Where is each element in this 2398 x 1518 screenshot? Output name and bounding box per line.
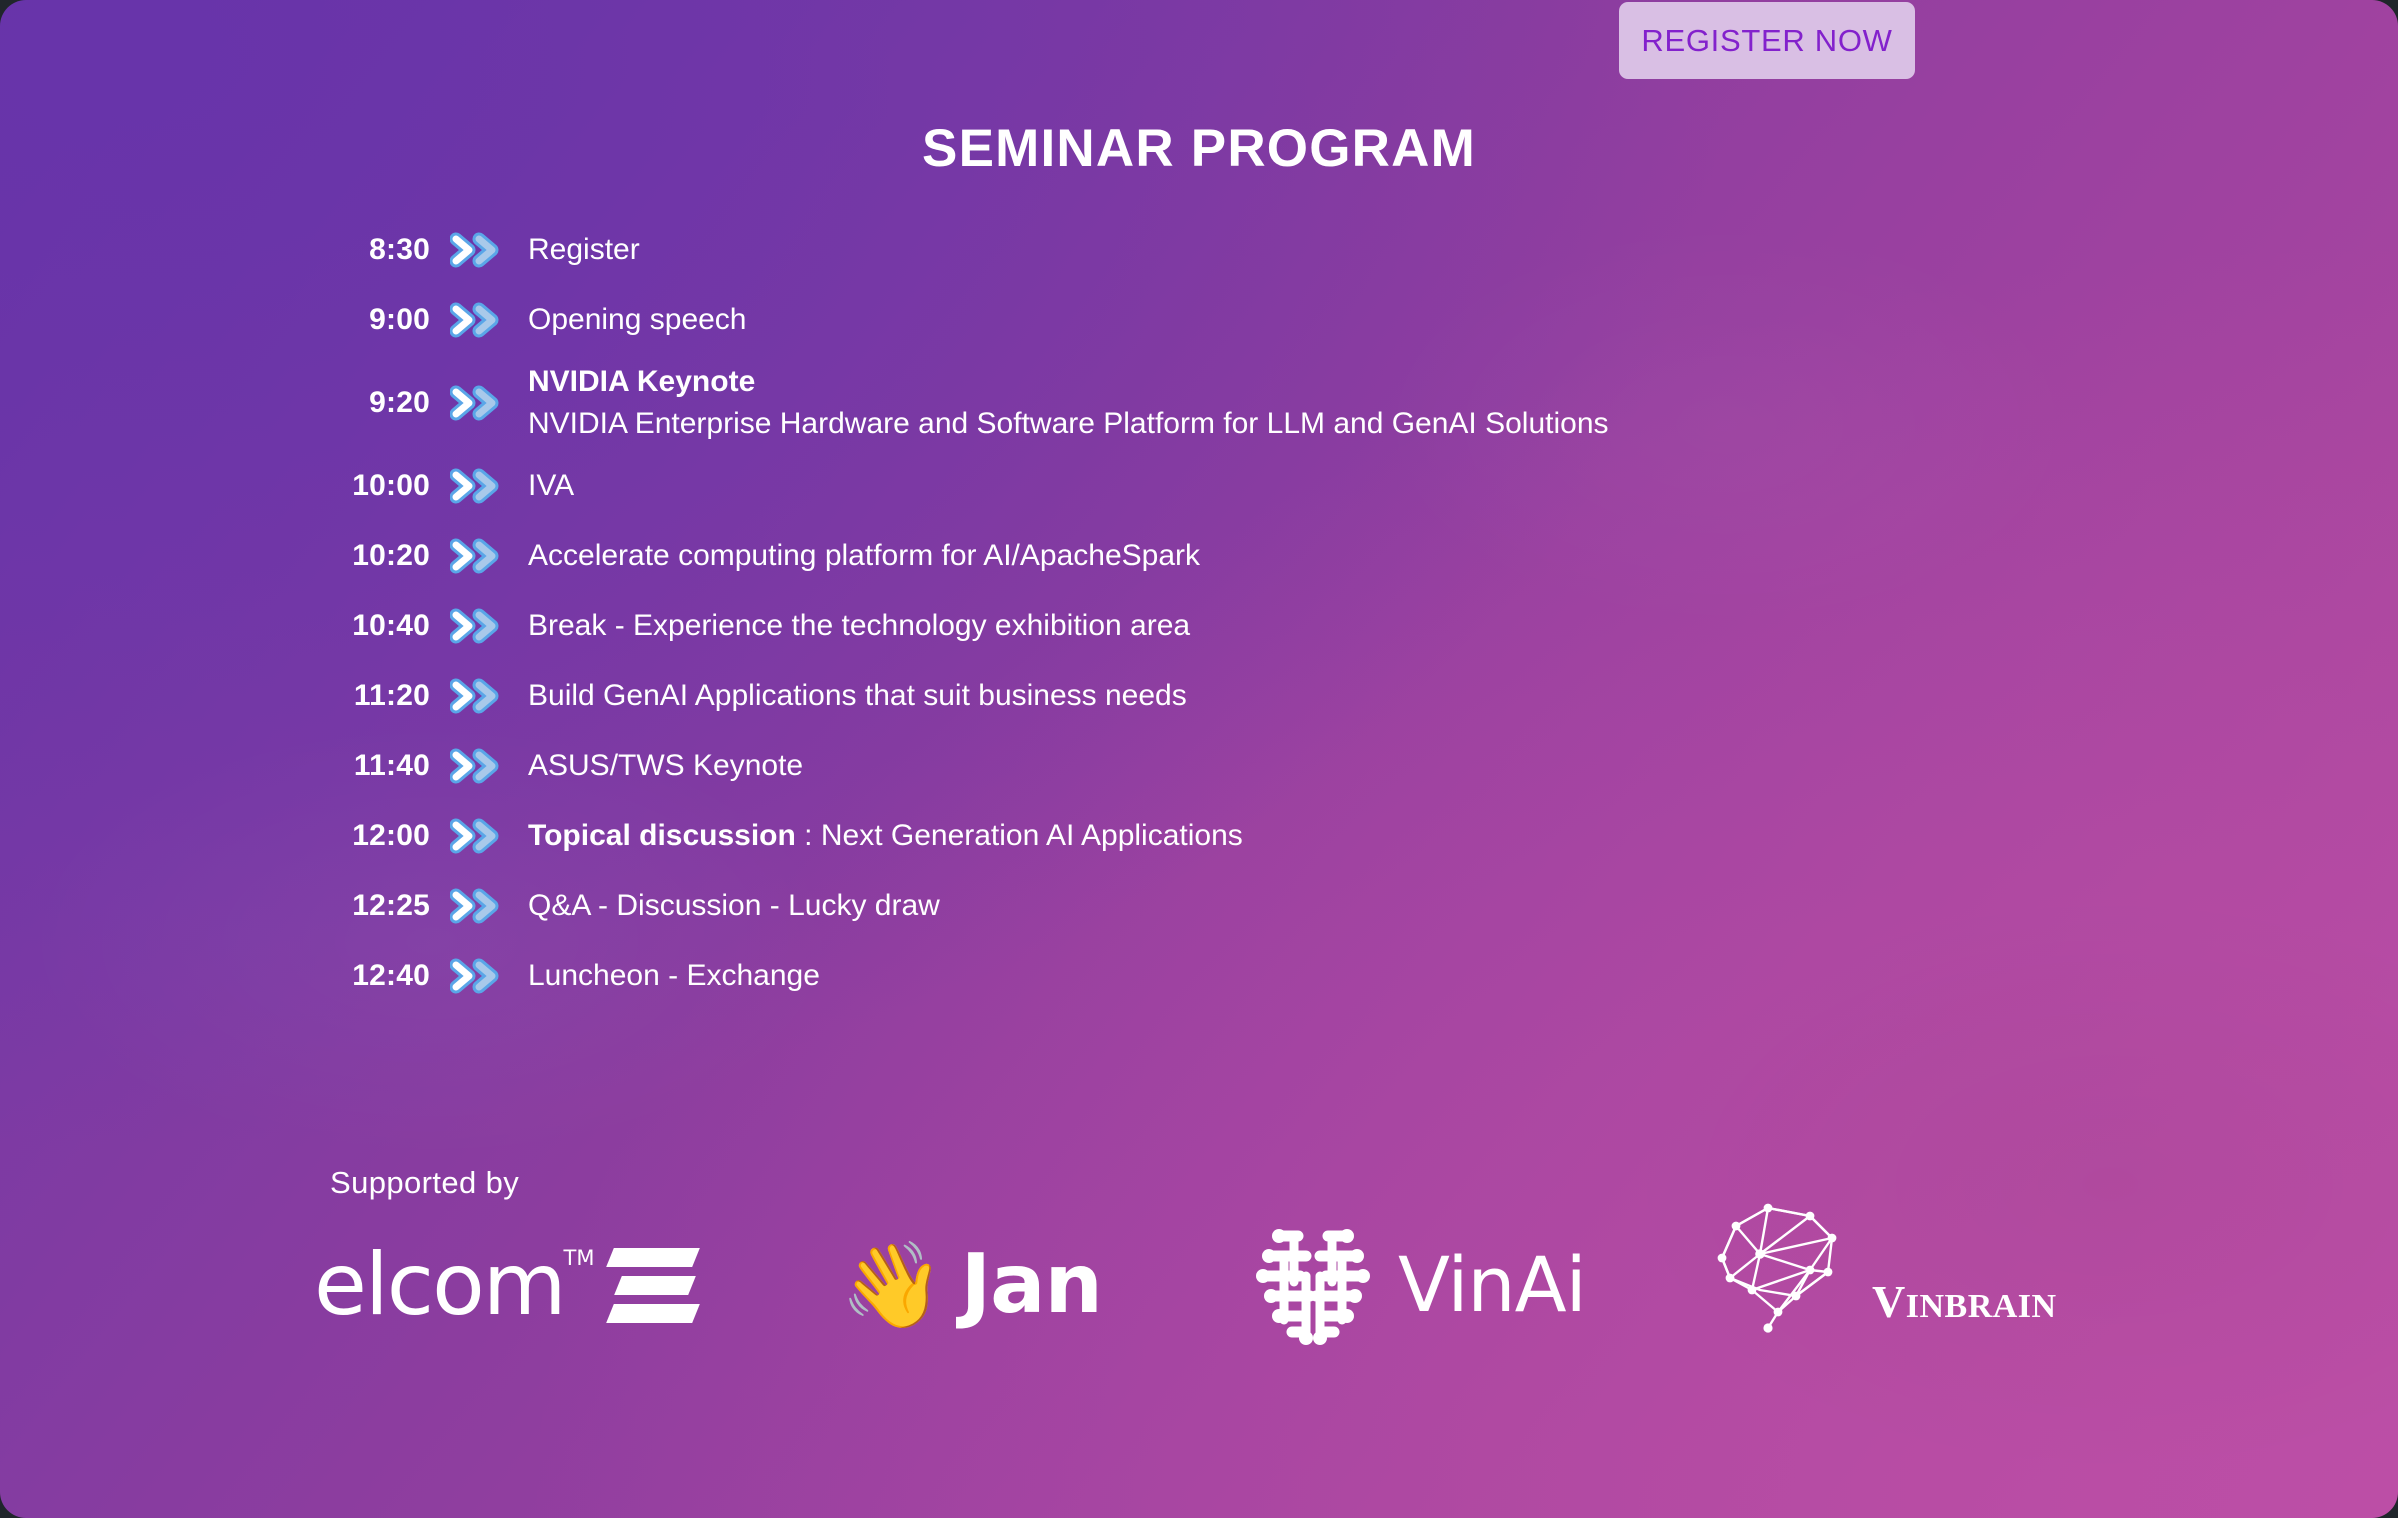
double-chevron-right-icon [430, 385, 526, 421]
program-row-title: ASUS/TWS Keynote [526, 747, 2100, 785]
double-chevron-right-icon [430, 678, 526, 714]
double-chevron-right-icon [430, 748, 526, 784]
program-row: 11:20 Build GenAI Applications that suit… [300, 661, 2100, 731]
sponsor-logo-elcom: elcom TM [314, 1215, 696, 1355]
program-row-title: Opening speech [526, 301, 2100, 339]
double-chevron-right-icon [430, 888, 526, 924]
sponsor-logo-row: elcom TM 👋 Jan [300, 1215, 2200, 1355]
vinai-circuit-icon [1250, 1220, 1380, 1351]
program-row: 10:20 Accelerate computing platform for … [300, 521, 2100, 591]
program-row: 9:20 NVIDIA Keynote NVIDIA Enterprise Ha… [300, 355, 2100, 451]
program-row-title-text: Accelerate computing platform for AI/Apa… [528, 539, 1200, 572]
program-row-title-text: Build GenAI Applications that suit busin… [528, 679, 1187, 712]
vinbrain-wordmark-initial: V [1872, 1276, 1906, 1327]
seminar-program-slide: REGISTER NOW SEMINAR PROGRAM 8:30 Regist… [0, 0, 2398, 1518]
program-row-time: 9:00 [300, 305, 430, 335]
program-row-title-text: Topical discussion [528, 819, 796, 852]
sponsor-logo-jan: 👋 Jan [840, 1215, 1102, 1355]
program-row-title: NVIDIA Keynote NVIDIA Enterprise Hardwar… [526, 363, 2100, 444]
jan-wordmark: Jan [961, 1244, 1102, 1326]
program-row-title: Topical discussion : Next Generation AI … [526, 817, 2100, 855]
program-row-title: IVA [526, 467, 2100, 505]
brain-network-icon [1700, 1186, 1890, 1341]
sponsor-logo-vinbrain: VINBRAIN [1700, 1201, 2057, 1341]
program-row-title-text: Register [528, 233, 640, 266]
double-chevron-right-icon [430, 538, 526, 574]
vinbrain-wordmark: VINBRAIN [1872, 1279, 2057, 1325]
program-row-title: Register [526, 231, 2100, 269]
program-row: 8:30 Register [300, 215, 2100, 285]
elcom-wordmark-text: elcom [314, 1235, 564, 1335]
vinbrain-wordmark-rest: INBRAIN [1906, 1288, 2057, 1325]
elcom-bar [607, 1304, 701, 1323]
program-row-title-text: IVA [528, 469, 574, 502]
vinai-wordmark: VinAi [1398, 1247, 1586, 1323]
program-row-time: 10:20 [300, 541, 430, 571]
program-row-title-text: Luncheon - Exchange [528, 959, 820, 992]
program-row: 11:40 ASUS/TWS Keynote [300, 731, 2100, 801]
waving-hand-icon: 👋 [840, 1243, 945, 1327]
program-row-time: 11:40 [300, 751, 430, 781]
program-row-title: Build GenAI Applications that suit busin… [526, 677, 2100, 715]
program-row-time: 11:20 [300, 681, 430, 711]
elcom-bar [615, 1276, 697, 1295]
program-row-title: Break - Experience the technology exhibi… [526, 607, 2100, 645]
program-row-time: 12:00 [300, 821, 430, 851]
elcom-wordmark: elcom TM [314, 1242, 564, 1328]
program-row-time: 10:00 [300, 471, 430, 501]
supported-by-label: Supported by [330, 1165, 519, 1201]
program-row: 12:25 Q&A - Discussion - Lucky draw [300, 871, 2100, 941]
program-row-title-text: Q&A - Discussion - Lucky draw [528, 889, 940, 922]
program-row-title: Accelerate computing platform for AI/Apa… [526, 537, 2100, 575]
double-chevron-right-icon [430, 232, 526, 268]
program-row: 9:00 Opening speech [300, 285, 2100, 355]
program-row-title-text: NVIDIA Keynote [528, 365, 755, 398]
double-chevron-right-icon [430, 302, 526, 338]
program-row: 12:00 Topical discussion : Next Generati… [300, 801, 2100, 871]
program-row-time: 8:30 [300, 235, 430, 265]
program-row-title-text: ASUS/TWS Keynote [528, 749, 803, 782]
program-row-title: Luncheon - Exchange [526, 957, 2100, 995]
elcom-bar [607, 1248, 701, 1267]
program-row-time: 9:20 [300, 388, 430, 418]
program-row-title-text: Opening speech [528, 303, 747, 336]
program-row: 10:00 IVA [300, 451, 2100, 521]
program-row-time: 12:40 [300, 961, 430, 991]
program-row: 10:40 Break - Experience the technology … [300, 591, 2100, 661]
program-row-time: 10:40 [300, 611, 430, 641]
program-row: 12:40 Luncheon - Exchange [300, 941, 2100, 1011]
double-chevron-right-icon [430, 818, 526, 854]
program-schedule-list: 8:30 Register 9:00 Opening speech 9:20 [300, 215, 2100, 1011]
program-row-time: 12:25 [300, 891, 430, 921]
sponsor-logo-vinai: VinAi [1250, 1215, 1586, 1355]
double-chevron-right-icon [430, 468, 526, 504]
program-row-title-tail: : Next Generation AI Applications [796, 819, 1243, 852]
trademark-icon: TM [564, 1248, 595, 1269]
page-title: SEMINAR PROGRAM [0, 118, 2398, 179]
program-row-title-text: Break - Experience the technology exhibi… [528, 609, 1190, 642]
double-chevron-right-icon [430, 958, 526, 994]
double-chevron-right-icon [430, 608, 526, 644]
program-row-subtitle: NVIDIA Enterprise Hardware and Software … [528, 405, 2100, 443]
elcom-e-mark-icon [610, 1248, 696, 1323]
register-now-button[interactable]: REGISTER NOW [1619, 2, 1915, 79]
program-row-title: Q&A - Discussion - Lucky draw [526, 887, 2100, 925]
